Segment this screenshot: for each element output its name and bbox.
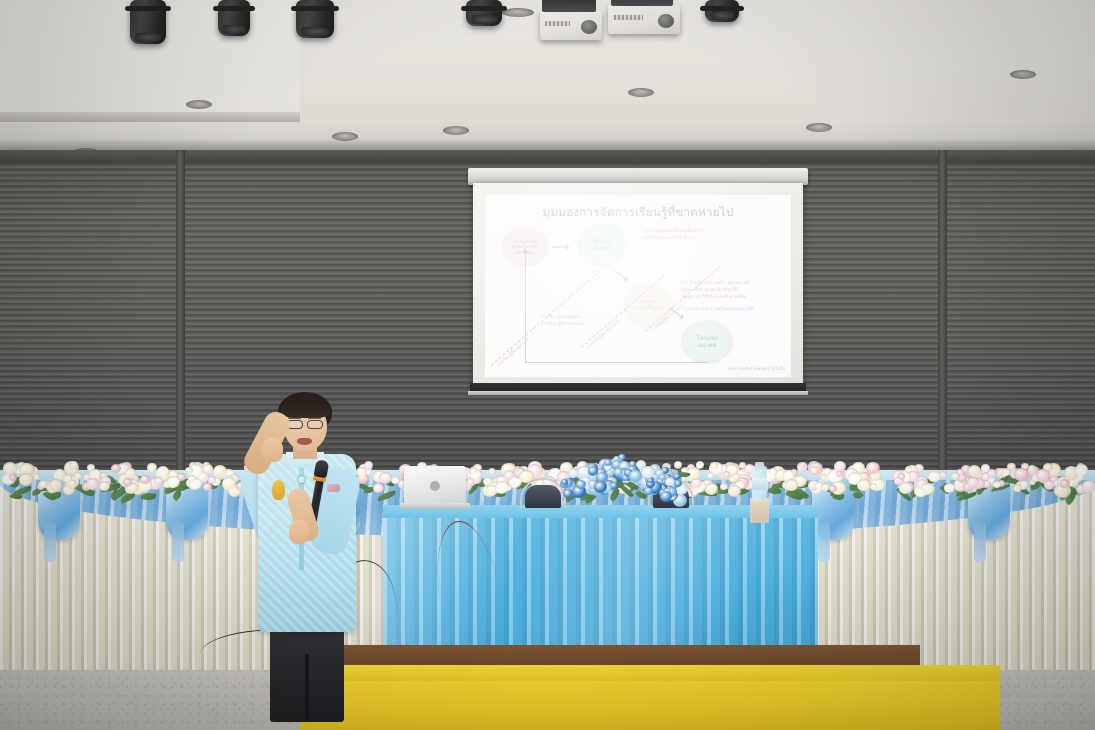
slide-note-2: การเรียนรู้จากสภาพจริง สถานการณ์ ปัญหา ช… [681,281,789,301]
garland-rose [967,477,979,488]
presenter-name-tag [327,484,340,492]
slide-content: มุมมองการจัดการเรียนรู้ที่ขาดหายไป ปรากฏ… [485,195,791,377]
garland-rose [1002,468,1010,475]
downlight-icon [186,100,212,109]
garland-rose [86,478,99,490]
garland-rose [821,483,830,491]
centerpiece-rose [588,466,598,475]
slide-title: มุมมองการจัดการเรียนรู้ที่ขาดหายไป [485,204,791,222]
presenter-right-hand [289,520,309,544]
garland-rose [99,481,110,491]
garland-rose [33,473,40,480]
garland-rose [203,483,212,491]
projection-screen: มุมมองการจัดการเรียนรู้ที่ขาดหายไป ปรากฏ… [468,168,808,405]
laptop-logo-icon [430,481,440,491]
garland-rose [213,465,227,478]
arrow-icon: ⟶ [551,239,570,255]
slide-note-4: การเรียนรู้ของผู้เรียน การเรียนรู้ที่ขาด… [541,315,627,329]
garland-rose [899,482,912,494]
bottle-label [752,478,767,490]
downlight-icon [628,88,654,97]
garland-rose [707,472,714,479]
garland-rose [49,479,62,491]
garland-rose [921,483,935,496]
centerpiece-rose [561,479,568,485]
stage-light-icon [296,0,334,38]
garland-rose [185,467,193,474]
centerpiece-rose [674,480,682,488]
presenter-brow [288,417,301,419]
garland-rose [373,483,384,493]
slide-bubble-3-label: โลกแห่ง ความเป็นจริง [634,299,663,312]
garland-rose [1075,464,1088,476]
laptop-lid [404,466,466,504]
slide-bubble-4: โลกแห่ง อนาคต [681,320,733,364]
presenter-shirt-button [298,476,305,483]
shutter-divider [176,150,185,500]
slide-note-3: การคาดการณ์ การเตรียมพร้อมอนาคต [681,307,789,314]
slide-credit: รศ.ดร.พิมพันธ์ เดชะคุปต์ (2565) [727,365,785,372]
centerpiece-rose [576,480,586,489]
wall-top-rail [0,150,1095,163]
garland-rose [723,471,731,478]
projector-icon [608,4,680,34]
stage-top-cloth [300,665,1001,681]
stage-light-icon [705,0,739,22]
garland-rose [379,472,392,484]
garland-rose [63,474,73,483]
garland-rose [866,462,880,475]
slide-note-1: การเรียนรู้ศาสตร์ที่เป็นเนื้อหาวิชา หนัง… [643,229,743,243]
stage-light-icon [130,0,166,44]
bottle-stand [750,498,769,523]
presenter [232,392,368,730]
garland-rose [857,479,870,491]
garland-rose [495,481,509,494]
garland-rose [1014,468,1029,481]
slide-bubble-2: โลกแห่ง ศาสตร์ [577,223,627,267]
garland-rose [939,471,947,478]
presenter-gold-emblem [272,480,285,500]
stage-front-cloth [300,677,1000,730]
laptop [404,466,466,510]
garland-rose [488,468,496,476]
garland-rose [69,461,77,469]
slide-axis-x [525,362,707,363]
garland-rose [1082,480,1095,493]
presenter-left-hand [262,438,283,462]
garland-rose [968,465,981,477]
slide-axis-y-arrow [522,248,528,253]
garland-rose [470,467,478,474]
slide-bubble-2-label: โลกแห่ง ศาสตร์ [591,238,612,253]
garland-rose [167,476,180,488]
shutter-divider [938,150,947,500]
bottle-cap [755,462,764,467]
centerpiece-rose [647,478,653,484]
stage-platform [300,665,1000,730]
garland-rose [987,469,997,478]
arrow-icon: ⟶ [608,263,633,287]
downlight-icon [443,126,469,135]
stage-light-icon [218,0,250,36]
presenter-hair-front [281,400,330,418]
presenter-mouth [297,438,312,445]
slide-bubble-4-label: โลกแห่ง อนาคต [696,335,717,350]
garland-rose [9,474,16,481]
garland-rose [944,483,955,493]
downlight-icon [1010,70,1036,79]
eyeglasses-icon [307,420,323,429]
garland-rose [154,477,163,485]
downlight-icon [806,123,832,132]
blue-rose-centerpiece [560,452,680,496]
slide-axis-y [525,253,526,363]
presenter-leg-split [305,654,309,722]
garland-rose [504,470,515,480]
garland-rose [810,466,819,474]
presentation-photo-scene: มุมมองการจัดการเรียนรู้ที่ขาดหายไป ปรากฏ… [0,0,1095,730]
water-bottle [751,462,768,506]
garland-rose [1036,469,1050,482]
presenter-brow [308,417,321,419]
projector-icon [540,10,602,40]
garland-rose [19,473,33,486]
garland-rose [728,485,741,497]
garland-rose [203,464,214,474]
laptop-base [400,503,470,509]
soffit-edge [0,112,300,122]
centerpiece-rose [641,466,654,478]
garland-rose [123,478,132,487]
centerpiece-rose [665,477,675,486]
screen-bottom-lip [468,391,808,395]
stage-light-icon [466,0,502,26]
screen-surface: มุมมองการจัดการเรียนรู้ที่ขาดหายไป ปรากฏ… [473,183,803,386]
garland-rose [3,462,17,474]
centerpiece-rose [563,489,573,498]
